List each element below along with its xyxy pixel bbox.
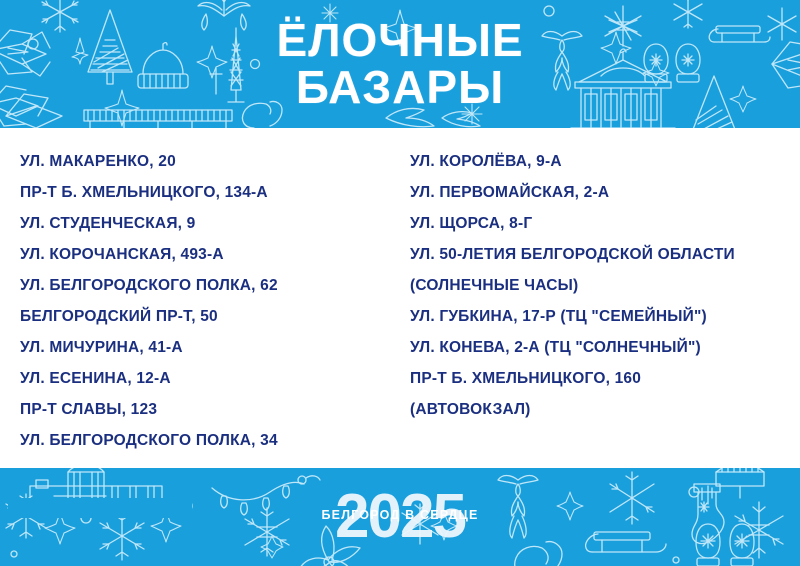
address-item: ПР-Т Б. ХМЕЛЬНИЦКОГО, 160 xyxy=(410,363,800,394)
address-item: УЛ. СТУДЕНЧЕСКАЯ, 9 xyxy=(20,208,400,239)
address-list-area: УЛ. МАКАРЕНКО, 20 ПР-Т Б. ХМЕЛЬНИЦКОГО, … xyxy=(0,128,800,468)
address-item: УЛ. 50-ЛЕТИЯ БЕЛГОРОДСКОЙ ОБЛАСТИ xyxy=(410,239,800,270)
address-columns: УЛ. МАКАРЕНКО, 20 ПР-Т Б. ХМЕЛЬНИЦКОГО, … xyxy=(0,128,800,468)
circle-decoration xyxy=(673,557,679,563)
address-item: УЛ. ПЕРВОМАЙСКАЯ, 2-А xyxy=(410,177,800,208)
logo-tagline: БЕЛГОРОД В СЕРДЦЕ xyxy=(300,508,500,522)
address-column-right: УЛ. КОРОЛЁВА, 9-А УЛ. ПЕРВОМАЙСКАЯ, 2-А … xyxy=(400,128,800,468)
snowflake-icon xyxy=(245,508,289,556)
snowflake-icon xyxy=(100,512,144,560)
address-item: УЛ. БЕЛГОРОДСКОГО ПОЛКА, 62 xyxy=(20,270,400,301)
address-item: УЛ. МАКАРЕНКО, 20 xyxy=(20,146,400,177)
title-line-1: ЁЛОЧНЫЕ xyxy=(276,18,523,63)
snowflake-icon xyxy=(610,472,654,524)
header-banner: ЁЛОЧНЫЕ БАЗАРЫ xyxy=(0,0,800,128)
santa-figure-icon xyxy=(515,542,562,566)
angel-icon xyxy=(498,476,538,539)
logo-tagline-backdrop xyxy=(8,498,192,518)
mittens-icon xyxy=(696,524,754,566)
address-item: УЛ. ЕСЕНИНА, 12-А xyxy=(20,363,400,394)
address-item: (СОЛНЕЧНЫЕ ЧАСЫ) xyxy=(410,270,800,301)
gift-icon xyxy=(716,468,764,498)
circle-decoration xyxy=(689,487,699,497)
address-item: ПР-Т СЛАВЫ, 123 xyxy=(20,394,400,425)
address-item: УЛ. ЩОРСА, 8-Г xyxy=(410,208,800,239)
address-item: УЛ. КОРОЧАНСКАЯ, 493-А xyxy=(20,239,400,270)
address-item: УЛ. МИЧУРИНА, 41-А xyxy=(20,332,400,363)
address-column-left: УЛ. МАКАРЕНКО, 20 ПР-Т Б. ХМЕЛЬНИЦКОГО, … xyxy=(0,128,400,468)
circle-decoration xyxy=(11,551,17,557)
address-item: УЛ. БЕЛГОРОДСКОГО ПОЛКА, 34 xyxy=(20,425,400,456)
sparkle-icon xyxy=(557,492,583,520)
footer-banner: 2025 БЕЛГОРОД В СЕРДЦЕ xyxy=(0,468,800,566)
poster-root: ЁЛОЧНЫЕ БАЗАРЫ УЛ. МАКАРЕНКО, 20 ПР-Т Б.… xyxy=(0,0,800,566)
title-line-2: БАЗАРЫ xyxy=(296,65,504,110)
sled-icon xyxy=(586,532,666,552)
address-item: УЛ. КОРОЛЁВА, 9-А xyxy=(410,146,800,177)
address-item: УЛ. ГУБКИНА, 17-Р (ТЦ "СЕМЕЙНЫЙ") xyxy=(410,301,800,332)
address-item: БЕЛГОРОДСКИЙ ПР-Т, 50 xyxy=(20,301,400,332)
address-item: (АВТОВОКЗАЛ) xyxy=(410,394,800,425)
stocking-icon xyxy=(692,484,724,544)
poster-title: ЁЛОЧНЫЕ БАЗАРЫ xyxy=(0,0,800,128)
address-item: ПР-Т Б. ХМЕЛЬНИЦКОГО, 134-А xyxy=(20,177,400,208)
sparkle-icon xyxy=(261,536,283,558)
address-item: УЛ. КОНЕВА, 2-А (ТЦ "СОЛНЕЧНЫЙ") xyxy=(410,332,800,363)
snowflake-icon xyxy=(735,502,783,558)
